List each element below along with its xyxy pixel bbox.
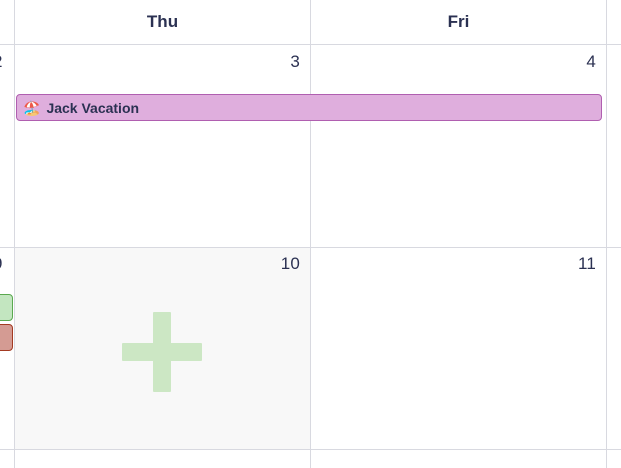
day-cell-10[interactable]: 10 <box>15 248 310 449</box>
event-jack-vacation[interactable]: 🏖️ Jack Vacation <box>16 94 602 121</box>
day-cell-next-week-thu[interactable] <box>15 450 310 468</box>
day-number-3: 3 <box>290 52 300 72</box>
add-plus-vertical-bar <box>153 312 171 392</box>
day-cell-next-week-partial-left[interactable] <box>0 450 14 468</box>
column-divider-thu-fri <box>310 0 311 468</box>
day-number-11: 11 <box>578 254 596 274</box>
day-cell-11[interactable]: 11 <box>311 248 606 449</box>
day-number-10: 10 <box>281 254 300 274</box>
day-number-9: 9 <box>0 254 3 274</box>
day-number-4: 4 <box>586 52 596 72</box>
event-title: Jack Vacation <box>46 101 139 115</box>
day-cell-3[interactable]: 3 <box>15 46 310 247</box>
weekday-header-fri: Fri <box>311 0 606 44</box>
event-chip-green-partial[interactable] <box>0 294 13 321</box>
day-cell-2[interactable]: 2 <box>0 46 14 247</box>
day-cell-4[interactable]: 4 <box>311 46 606 247</box>
event-chip-red-partial[interactable] <box>0 324 13 351</box>
day-cell-next-week-fri[interactable] <box>311 450 606 468</box>
day-number-2: 2 <box>0 52 3 72</box>
add-event-plus-icon[interactable] <box>122 312 202 392</box>
weekday-header-thu: Thu <box>15 0 310 44</box>
column-divider-right <box>606 0 607 468</box>
month-calendar-grid: Thu Fri 2 3 4 9 10 11 🏖️ Jack Vacation <box>0 0 621 468</box>
week-divider-2 <box>0 449 621 450</box>
beach-with-umbrella-icon: 🏖️ <box>23 101 40 115</box>
column-divider-left <box>14 0 15 468</box>
week-divider-1 <box>0 247 621 248</box>
